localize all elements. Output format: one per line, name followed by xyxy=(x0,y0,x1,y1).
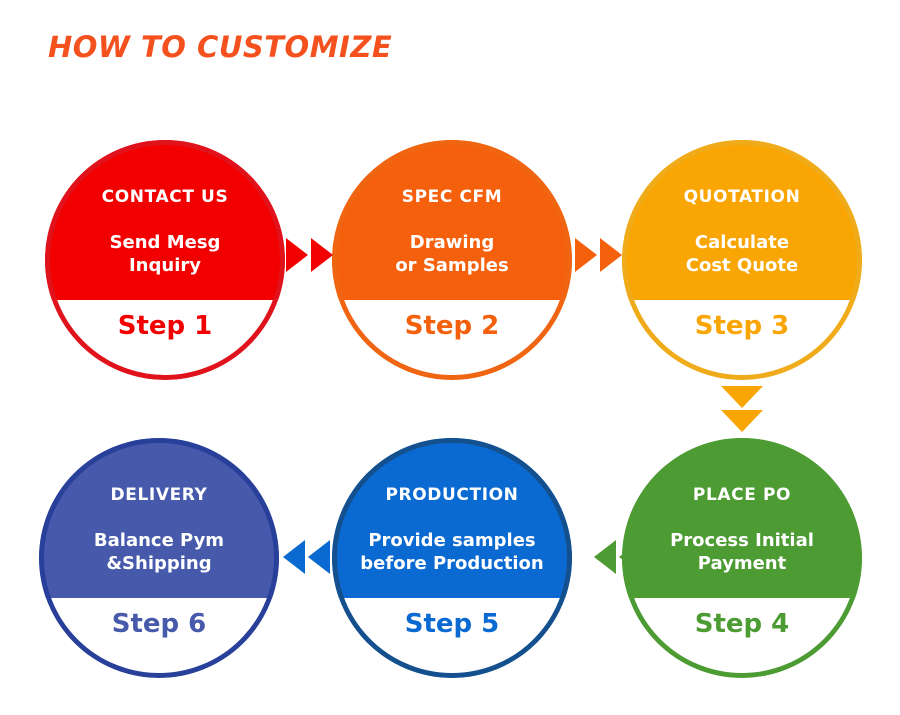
step-description-5: Provide samples before Production xyxy=(352,529,551,575)
arrow-right-triangle xyxy=(286,238,308,272)
step-circle-1[interactable]: CONTACT US Send Mesg Inquiry Step 1 xyxy=(45,140,285,380)
arrow-left-triangle xyxy=(308,540,330,574)
step-label-5: Step 5 xyxy=(332,610,572,639)
arrow-left-triangle xyxy=(594,540,616,574)
step-description-3: Calculate Cost Quote xyxy=(678,231,806,277)
step-circle-6[interactable]: DELIVERY Balance Pym &Shipping Step 6 xyxy=(39,438,279,678)
step-label-6: Step 6 xyxy=(39,610,279,639)
arrow-down-triangle xyxy=(721,386,763,408)
circle-content-3: QUOTATION Calculate Cost Quote Step 3 xyxy=(622,140,862,380)
step-heading-1: CONTACT US xyxy=(102,188,229,207)
arrow-step2-to-step3-icon xyxy=(575,238,622,272)
step-circle-4[interactable]: PLACE PO Process Initial Payment Step 4 xyxy=(622,438,862,678)
step-heading-6: DELIVERY xyxy=(111,486,208,505)
circle-content-4: PLACE PO Process Initial Payment Step 4 xyxy=(622,438,862,678)
step-circle-2[interactable]: SPEC CFM Drawing or Samples Step 2 xyxy=(332,140,572,380)
step-label-4: Step 4 xyxy=(622,610,862,639)
arrow-down-triangle xyxy=(721,410,763,432)
how-to-customize-infographic: HOW TO CUSTOMIZE CONTACT US Send Mesg In… xyxy=(0,0,900,715)
step-label-3: Step 3 xyxy=(622,312,862,341)
arrow-left-triangle xyxy=(283,540,305,574)
page-title: HOW TO CUSTOMIZE xyxy=(48,30,392,64)
step-heading-3: QUOTATION xyxy=(684,188,801,207)
circle-content-1: CONTACT US Send Mesg Inquiry Step 1 xyxy=(45,140,285,380)
arrow-step1-to-step2-icon xyxy=(286,238,333,272)
step-heading-4: PLACE PO xyxy=(693,486,791,505)
step-description-4: Process Initial Payment xyxy=(662,529,822,575)
circle-content-2: SPEC CFM Drawing or Samples Step 2 xyxy=(332,140,572,380)
arrow-right-triangle xyxy=(575,238,597,272)
circle-content-5: PRODUCTION Provide samples before Produc… xyxy=(332,438,572,678)
step-description-6: Balance Pym &Shipping xyxy=(86,529,232,575)
arrow-step5-to-step6-icon xyxy=(283,540,330,574)
arrow-right-triangle xyxy=(311,238,333,272)
step-heading-2: SPEC CFM xyxy=(402,188,503,207)
step-label-1: Step 1 xyxy=(45,312,285,341)
step-circle-3[interactable]: QUOTATION Calculate Cost Quote Step 3 xyxy=(622,140,862,380)
arrow-step4-to-step5-icon xyxy=(594,540,641,574)
step-description-2: Drawing or Samples xyxy=(387,231,516,277)
arrow-right-triangle xyxy=(600,238,622,272)
step-label-2: Step 2 xyxy=(332,312,572,341)
step-description-1: Send Mesg Inquiry xyxy=(102,231,229,277)
step-circle-5[interactable]: PRODUCTION Provide samples before Produc… xyxy=(332,438,572,678)
arrow-step3-to-step4-icon xyxy=(721,386,763,432)
circle-content-6: DELIVERY Balance Pym &Shipping Step 6 xyxy=(39,438,279,678)
step-heading-5: PRODUCTION xyxy=(386,486,519,505)
arrow-left-triangle xyxy=(619,540,641,574)
